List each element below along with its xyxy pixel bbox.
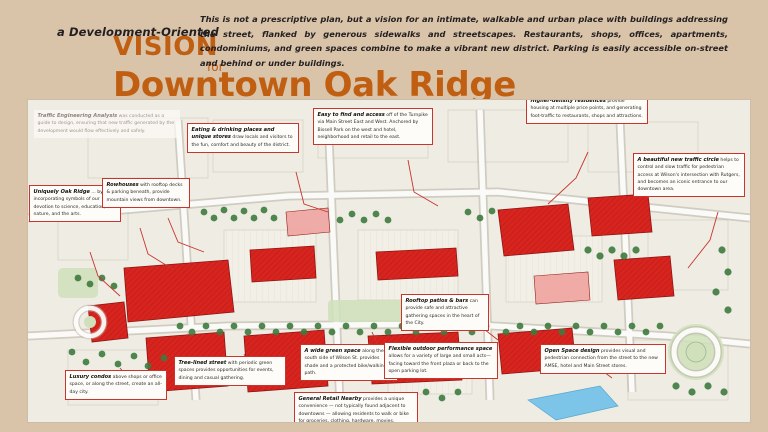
- callout-title: Higher-density residences: [531, 100, 606, 104]
- callout-title: Rowhouses: [107, 182, 139, 188]
- callout-beautiful-new-traffic-circle[interactable]: A beautiful new traffic circle helps to …: [633, 153, 745, 197]
- callout-title: A beautiful new traffic circle: [638, 157, 719, 163]
- callout-title: Luxury condos: [70, 374, 112, 380]
- site-plan: Traffic Engineering Analysis was conduct…: [28, 100, 750, 422]
- callout-title: A wide green space: [305, 348, 361, 354]
- callout-luxury-condos[interactable]: Luxury condos above shops or office spac…: [65, 370, 167, 400]
- callout-rowhouses[interactable]: Rowhouses with rooftop decks & parking b…: [102, 178, 190, 208]
- page-title: Downtown Oak Ridge: [113, 68, 516, 102]
- callout-title: Tree-lined street: [179, 360, 227, 366]
- poster-header: a Development-Oriented VISION for Downto…: [0, 0, 768, 100]
- callout-general-retail-nearby[interactable]: General Retail Nearby provides a unique …: [294, 392, 418, 422]
- callout-title: General Retail Nearby: [299, 396, 362, 402]
- callout-traffic-engineering-analysis[interactable]: Traffic Engineering Analysis was conduct…: [34, 110, 180, 138]
- intro-paragraph: This is not a prescriptive plan, but a v…: [200, 12, 728, 70]
- callout-easy-to-find-and-access[interactable]: Easy to find and access off of the Turnp…: [313, 108, 433, 145]
- callout-title: Rooftop patios & bars: [406, 298, 469, 304]
- callout-title: Easy to find and access: [318, 112, 385, 118]
- callout-tree-lined-street[interactable]: Tree-lined street with periodic green sp…: [174, 356, 286, 386]
- callout-flexible-outdoor-performance-space[interactable]: Flexible outdoor performance space allow…: [384, 342, 498, 379]
- callout-open-space-design[interactable]: Open Space design provides visual and pe…: [540, 344, 666, 374]
- callout-rooftop-patios-bars[interactable]: Rooftop patios & bars can provide safe a…: [401, 294, 489, 331]
- callout-eating-drinking-places[interactable]: Eating & drinking places and unique stor…: [187, 123, 299, 153]
- callout-body: allows for a variety of large and small …: [389, 354, 491, 373]
- callout-title: Traffic Engineering Analysis: [38, 113, 118, 119]
- poster-root: a Development-Oriented VISION for Downto…: [0, 0, 768, 432]
- callout-title: Open Space design: [545, 348, 600, 354]
- callout-higher-density-residences[interactable]: Higher-density residences provide housin…: [526, 100, 648, 124]
- callout-title: Uniquely Oak Ridge: [34, 189, 90, 195]
- callout-title: Flexible outdoor performance space: [389, 346, 493, 352]
